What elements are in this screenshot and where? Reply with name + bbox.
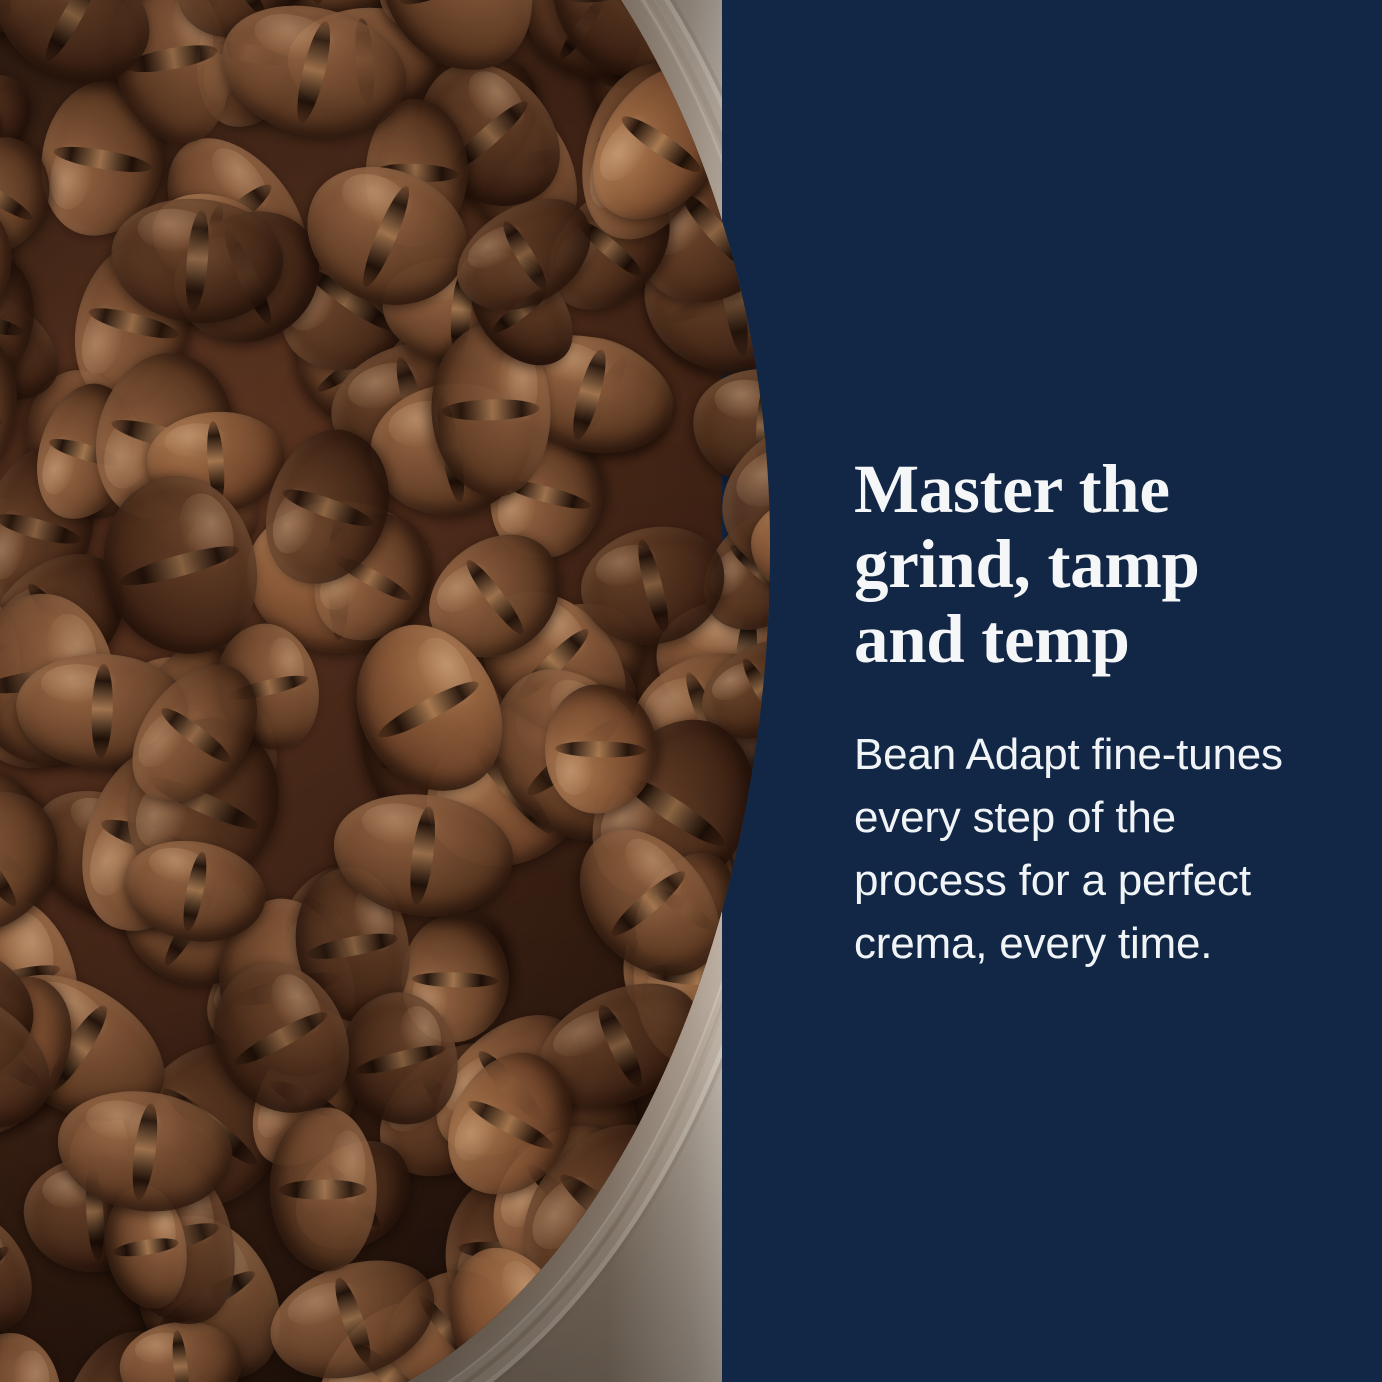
headline: Master the grind, tamp and temp	[854, 452, 1324, 677]
body-copy: Bean Adapt fine-tunes every step of the …	[854, 677, 1324, 975]
promo-card: Master the grind, tamp and temp Bean Ada…	[0, 0, 1382, 1382]
copy-block: Master the grind, tamp and temp Bean Ada…	[854, 452, 1324, 975]
bean-mass	[0, 0, 770, 1382]
bean-field	[0, 0, 770, 1382]
